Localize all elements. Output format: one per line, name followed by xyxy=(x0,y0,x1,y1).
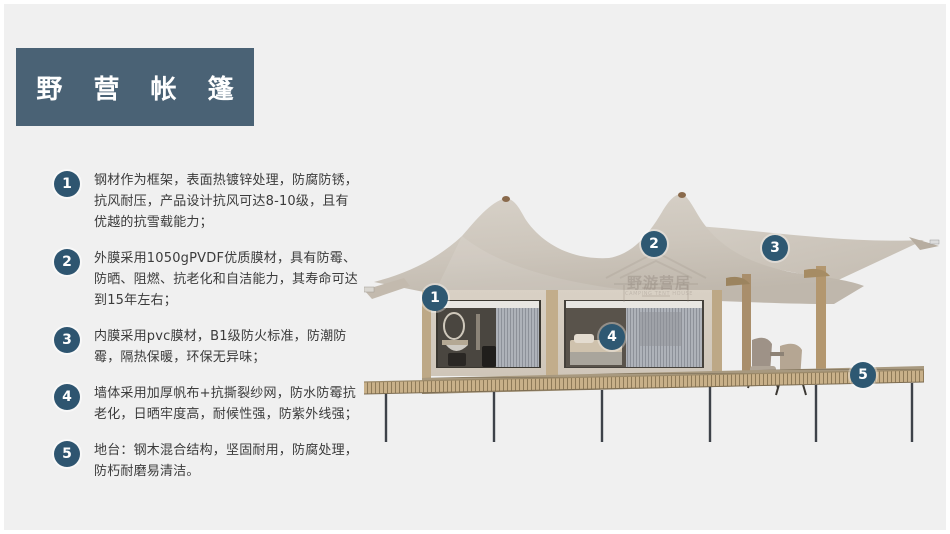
feature-number-badge-2: 2 xyxy=(54,249,80,275)
feature-item-5: 5 地台：钢木混合结构，坚固耐用，防腐处理，防朽耐磨易清洁。 xyxy=(54,440,364,482)
corner-post-mid xyxy=(546,290,558,378)
feature-item-1: 1 钢材作为框架，表面热镀锌处理，防腐防锈，抗风耐压，产品设计抗风可达8-10级… xyxy=(54,170,364,233)
corner-post-right xyxy=(712,290,722,378)
feature-item-2: 2 外膜采用1050gPVDF优质膜材，具有防霉、防晒、阻燃、抗老化和自洁能力，… xyxy=(54,248,364,311)
image-badge-4[interactable]: 4 xyxy=(599,324,625,350)
image-badge-2[interactable]: 2 xyxy=(641,231,667,257)
feature-item-3: 3 内膜采用pvc膜材，B1级防火标准，防潮防霉，隔热保暖，环保无异味； xyxy=(54,326,364,368)
title-banner: 野 营 帐 篷 xyxy=(16,48,254,126)
feature-text-5: 地台：钢木混合结构，坚固耐用，防腐处理，防朽耐磨易清洁。 xyxy=(94,440,359,482)
feature-text-2: 外膜采用1050gPVDF优质膜材，具有防霉、防晒、阻燃、抗老化和自洁能力，其寿… xyxy=(94,248,359,311)
pillow xyxy=(574,334,594,343)
curtain-left xyxy=(496,308,539,367)
image-badge-1[interactable]: 1 xyxy=(422,285,448,311)
window-left-blind xyxy=(438,301,539,308)
feature-text-4: 墙体采用加厚帆布+抗撕裂纱网，防水防霉抗老化，日晒牢度高，耐候性强，防紫外线强； xyxy=(94,383,359,425)
image-badge-3[interactable]: 3 xyxy=(762,235,788,261)
feature-item-4: 4 墙体采用加厚帆布+抗撕裂纱网，防水防霉抗老化，日晒牢度高，耐候性强，防紫外线… xyxy=(54,383,364,425)
tent-product-image xyxy=(364,154,944,444)
feature-number-badge-5: 5 xyxy=(54,441,80,467)
feature-list: 1 钢材作为框架，表面热镀锌处理，防腐防锈，抗风耐压，产品设计抗风可达8-10级… xyxy=(54,170,364,482)
feature-number-badge-1: 1 xyxy=(54,171,80,197)
window-right-blind xyxy=(566,301,702,308)
feature-text-1: 钢材作为框架，表面热镀锌处理，防腐防锈，抗风耐压，产品设计抗风可达8-10级，且… xyxy=(94,170,359,233)
terrace-column-2 xyxy=(816,266,826,382)
image-badge-5[interactable]: 5 xyxy=(850,362,876,388)
terrace-column-1 xyxy=(742,274,751,382)
slide-canvas: 野 营 帐 篷 1 钢材作为框架，表面热镀锌处理，防腐防锈，抗风耐压，产品设计抗… xyxy=(0,0,950,534)
page-title: 野 营 帐 篷 xyxy=(25,69,244,106)
feature-number-badge-3: 3 xyxy=(54,327,80,353)
feature-number-badge-4: 4 xyxy=(54,384,80,410)
feature-text-3: 内膜采用pvc膜材，B1级防火标准，防潮防霉，隔热保暖，环保无异味； xyxy=(94,326,359,368)
